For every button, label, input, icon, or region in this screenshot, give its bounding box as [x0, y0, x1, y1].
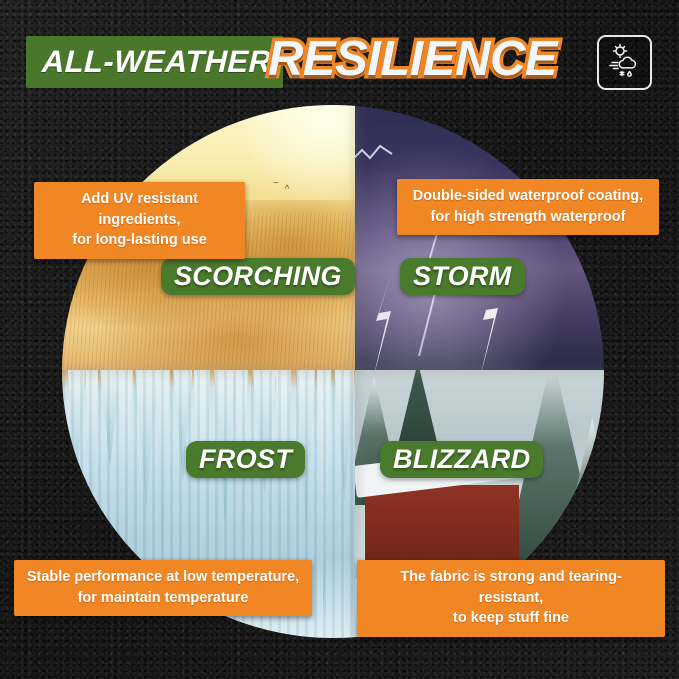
- caption-scorching-line-1: Add UV resistant ingredients,: [46, 189, 233, 230]
- title-resilience-badge: RESILIENCE: [268, 26, 557, 92]
- quadrant-label-blizzard: BLIZZARD: [380, 441, 543, 478]
- title-all-weather-badge: ALL-WEATHER: [26, 36, 283, 88]
- caption-frost: Stable performance at low temperature, f…: [14, 560, 312, 616]
- weather-icon-box: [597, 35, 652, 90]
- caption-storm: Double-sided waterproof coating, for hig…: [397, 179, 659, 235]
- quadrant-label-scorching: SCORCHING: [161, 258, 355, 295]
- header-banner: ALL-WEATHER RESILIENCE: [0, 0, 679, 104]
- caption-frost-line-1: Stable performance at low temperature,: [26, 567, 300, 588]
- all-weather-resilience-infographic: ALL-WEATHER RESILIENCE: [0, 0, 679, 679]
- quadrant-label-frost: FROST: [186, 441, 305, 478]
- caption-frost-line-2: for maintain temperature: [26, 588, 300, 609]
- caption-scorching-line-2: for long-lasting use: [46, 230, 233, 251]
- sun-cloud-wind-rain-snow-icon: [605, 40, 645, 85]
- caption-storm-line-1: Double-sided waterproof coating,: [409, 186, 647, 207]
- title-resilience-text: RESILIENCE: [268, 31, 557, 87]
- caption-blizzard-line-2: to keep stuff fine: [369, 608, 653, 629]
- caption-blizzard: The fabric is strong and tearing-resista…: [357, 560, 665, 637]
- caption-scorching: Add UV resistant ingredients, for long-l…: [34, 182, 245, 259]
- title-all-weather-text: ALL-WEATHER: [41, 44, 272, 80]
- caption-blizzard-line-1: The fabric is strong and tearing-resista…: [369, 567, 653, 608]
- scene-storm-lightning: [355, 105, 604, 370]
- caption-storm-line-2: for high strength waterproof: [409, 207, 647, 228]
- quadrant-label-storm: STORM: [400, 258, 525, 295]
